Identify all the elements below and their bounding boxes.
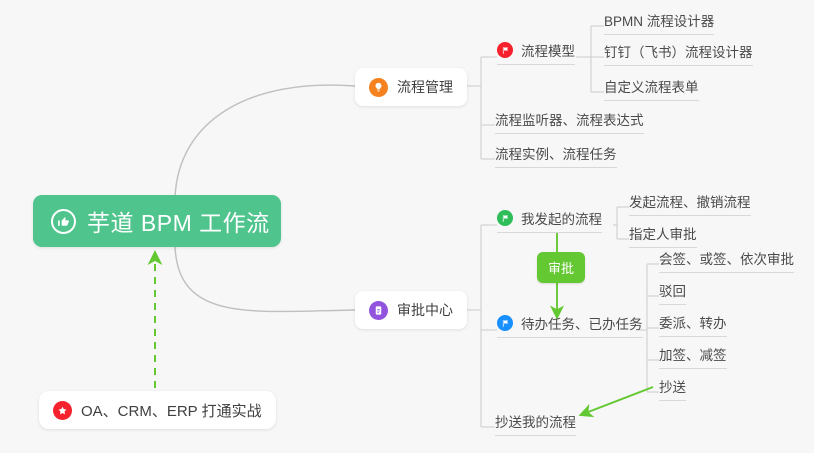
link-root-to-process-management — [175, 85, 355, 198]
root-node[interactable]: 芋道 BPM 工作流 — [33, 195, 281, 247]
underline — [495, 167, 617, 168]
underline — [659, 272, 794, 273]
branch-label-process-management: 流程管理 — [397, 77, 453, 97]
label-start-cancel-process: 发起流程、撤销流程 — [629, 191, 751, 211]
node-reject[interactable]: 驳回 — [659, 280, 686, 305]
flag-icon — [497, 210, 513, 226]
node-todo-done-tasks[interactable]: 待办任务、已办任务 — [497, 313, 643, 338]
annotation-tag-approve[interactable]: 审批 — [537, 252, 585, 283]
label-counter-or-sequential-sign: 会签、或签、依次审批 — [659, 248, 794, 268]
node-add-remove-sign[interactable]: 加签、减签 — [659, 344, 727, 369]
arrow-cc-to-cc-process — [583, 387, 653, 414]
branch-node-process-management[interactable]: 流程管理 — [355, 68, 467, 106]
label-process-model: 流程模型 — [521, 40, 575, 60]
mindmap-canvas: 芋道 BPM 工作流 流程管理 流程模型 BPMN 流程设计器 — [0, 0, 814, 453]
star-icon — [53, 401, 72, 420]
underline — [495, 133, 644, 134]
label-bpmn-designer: BPMN 流程设计器 — [604, 10, 714, 30]
node-process-listener-expression[interactable]: 流程监听器、流程表达式 — [495, 109, 644, 134]
label-cc-to-me-process: 抄送我的流程 — [495, 411, 576, 431]
underline — [604, 65, 753, 66]
label-delegate-transfer: 委派、转办 — [659, 312, 727, 332]
flag-icon — [497, 315, 513, 331]
node-start-cancel-process[interactable]: 发起流程、撤销流程 — [629, 191, 751, 216]
label-my-initiated-process: 我发起的流程 — [521, 208, 602, 228]
node-carbon-copy[interactable]: 抄送 — [659, 376, 686, 401]
underline — [659, 336, 727, 337]
clipboard-icon — [369, 301, 388, 320]
underline — [497, 64, 575, 65]
underline — [659, 304, 686, 305]
label-reject: 驳回 — [659, 280, 686, 300]
underline — [604, 34, 714, 35]
underline — [659, 368, 727, 369]
thumbs-up-icon — [51, 209, 76, 234]
label-assignee-approval: 指定人审批 — [629, 223, 697, 243]
label-process-listener-expression: 流程监听器、流程表达式 — [495, 109, 644, 129]
node-delegate-transfer[interactable]: 委派、转办 — [659, 312, 727, 337]
node-cc-to-me-process[interactable]: 抄送我的流程 — [495, 411, 576, 436]
node-process-instance-task[interactable]: 流程实例、流程任务 — [495, 143, 617, 168]
node-integration-practice[interactable]: OA、CRM、ERP 打通实战 — [39, 391, 276, 429]
node-dingtalk-feishu-designer[interactable]: 钉钉（飞书）流程设计器 — [604, 41, 753, 66]
flag-icon — [497, 42, 513, 58]
node-custom-process-form[interactable]: 自定义流程表单 — [604, 76, 699, 101]
label-carbon-copy: 抄送 — [659, 376, 686, 396]
lightbulb-icon — [369, 78, 388, 97]
underline — [629, 215, 751, 216]
label-todo-done-tasks: 待办任务、已办任务 — [521, 313, 643, 333]
underline — [495, 435, 576, 436]
tag-label-approve: 审批 — [548, 261, 574, 276]
underline — [497, 232, 602, 233]
node-counter-or-sequential-sign[interactable]: 会签、或签、依次审批 — [659, 248, 794, 273]
branch-label-approval-center: 审批中心 — [397, 300, 453, 320]
node-my-initiated-process[interactable]: 我发起的流程 — [497, 208, 602, 233]
label-dingtalk-feishu-designer: 钉钉（飞书）流程设计器 — [604, 41, 753, 61]
branch-node-approval-center[interactable]: 审批中心 — [355, 291, 467, 329]
label-custom-process-form: 自定义流程表单 — [604, 76, 699, 96]
node-bpmn-designer[interactable]: BPMN 流程设计器 — [604, 10, 714, 35]
link-root-to-approval-center — [175, 246, 355, 312]
label-add-remove-sign: 加签、减签 — [659, 344, 727, 364]
label-integration-practice: OA、CRM、ERP 打通实战 — [81, 400, 262, 421]
label-process-instance-task: 流程实例、流程任务 — [495, 143, 617, 163]
underline — [659, 400, 686, 401]
underline — [604, 100, 699, 101]
underline — [497, 337, 643, 338]
node-assignee-approval[interactable]: 指定人审批 — [629, 223, 697, 248]
root-label: 芋道 BPM 工作流 — [87, 204, 270, 238]
node-process-model[interactable]: 流程模型 — [497, 40, 575, 65]
